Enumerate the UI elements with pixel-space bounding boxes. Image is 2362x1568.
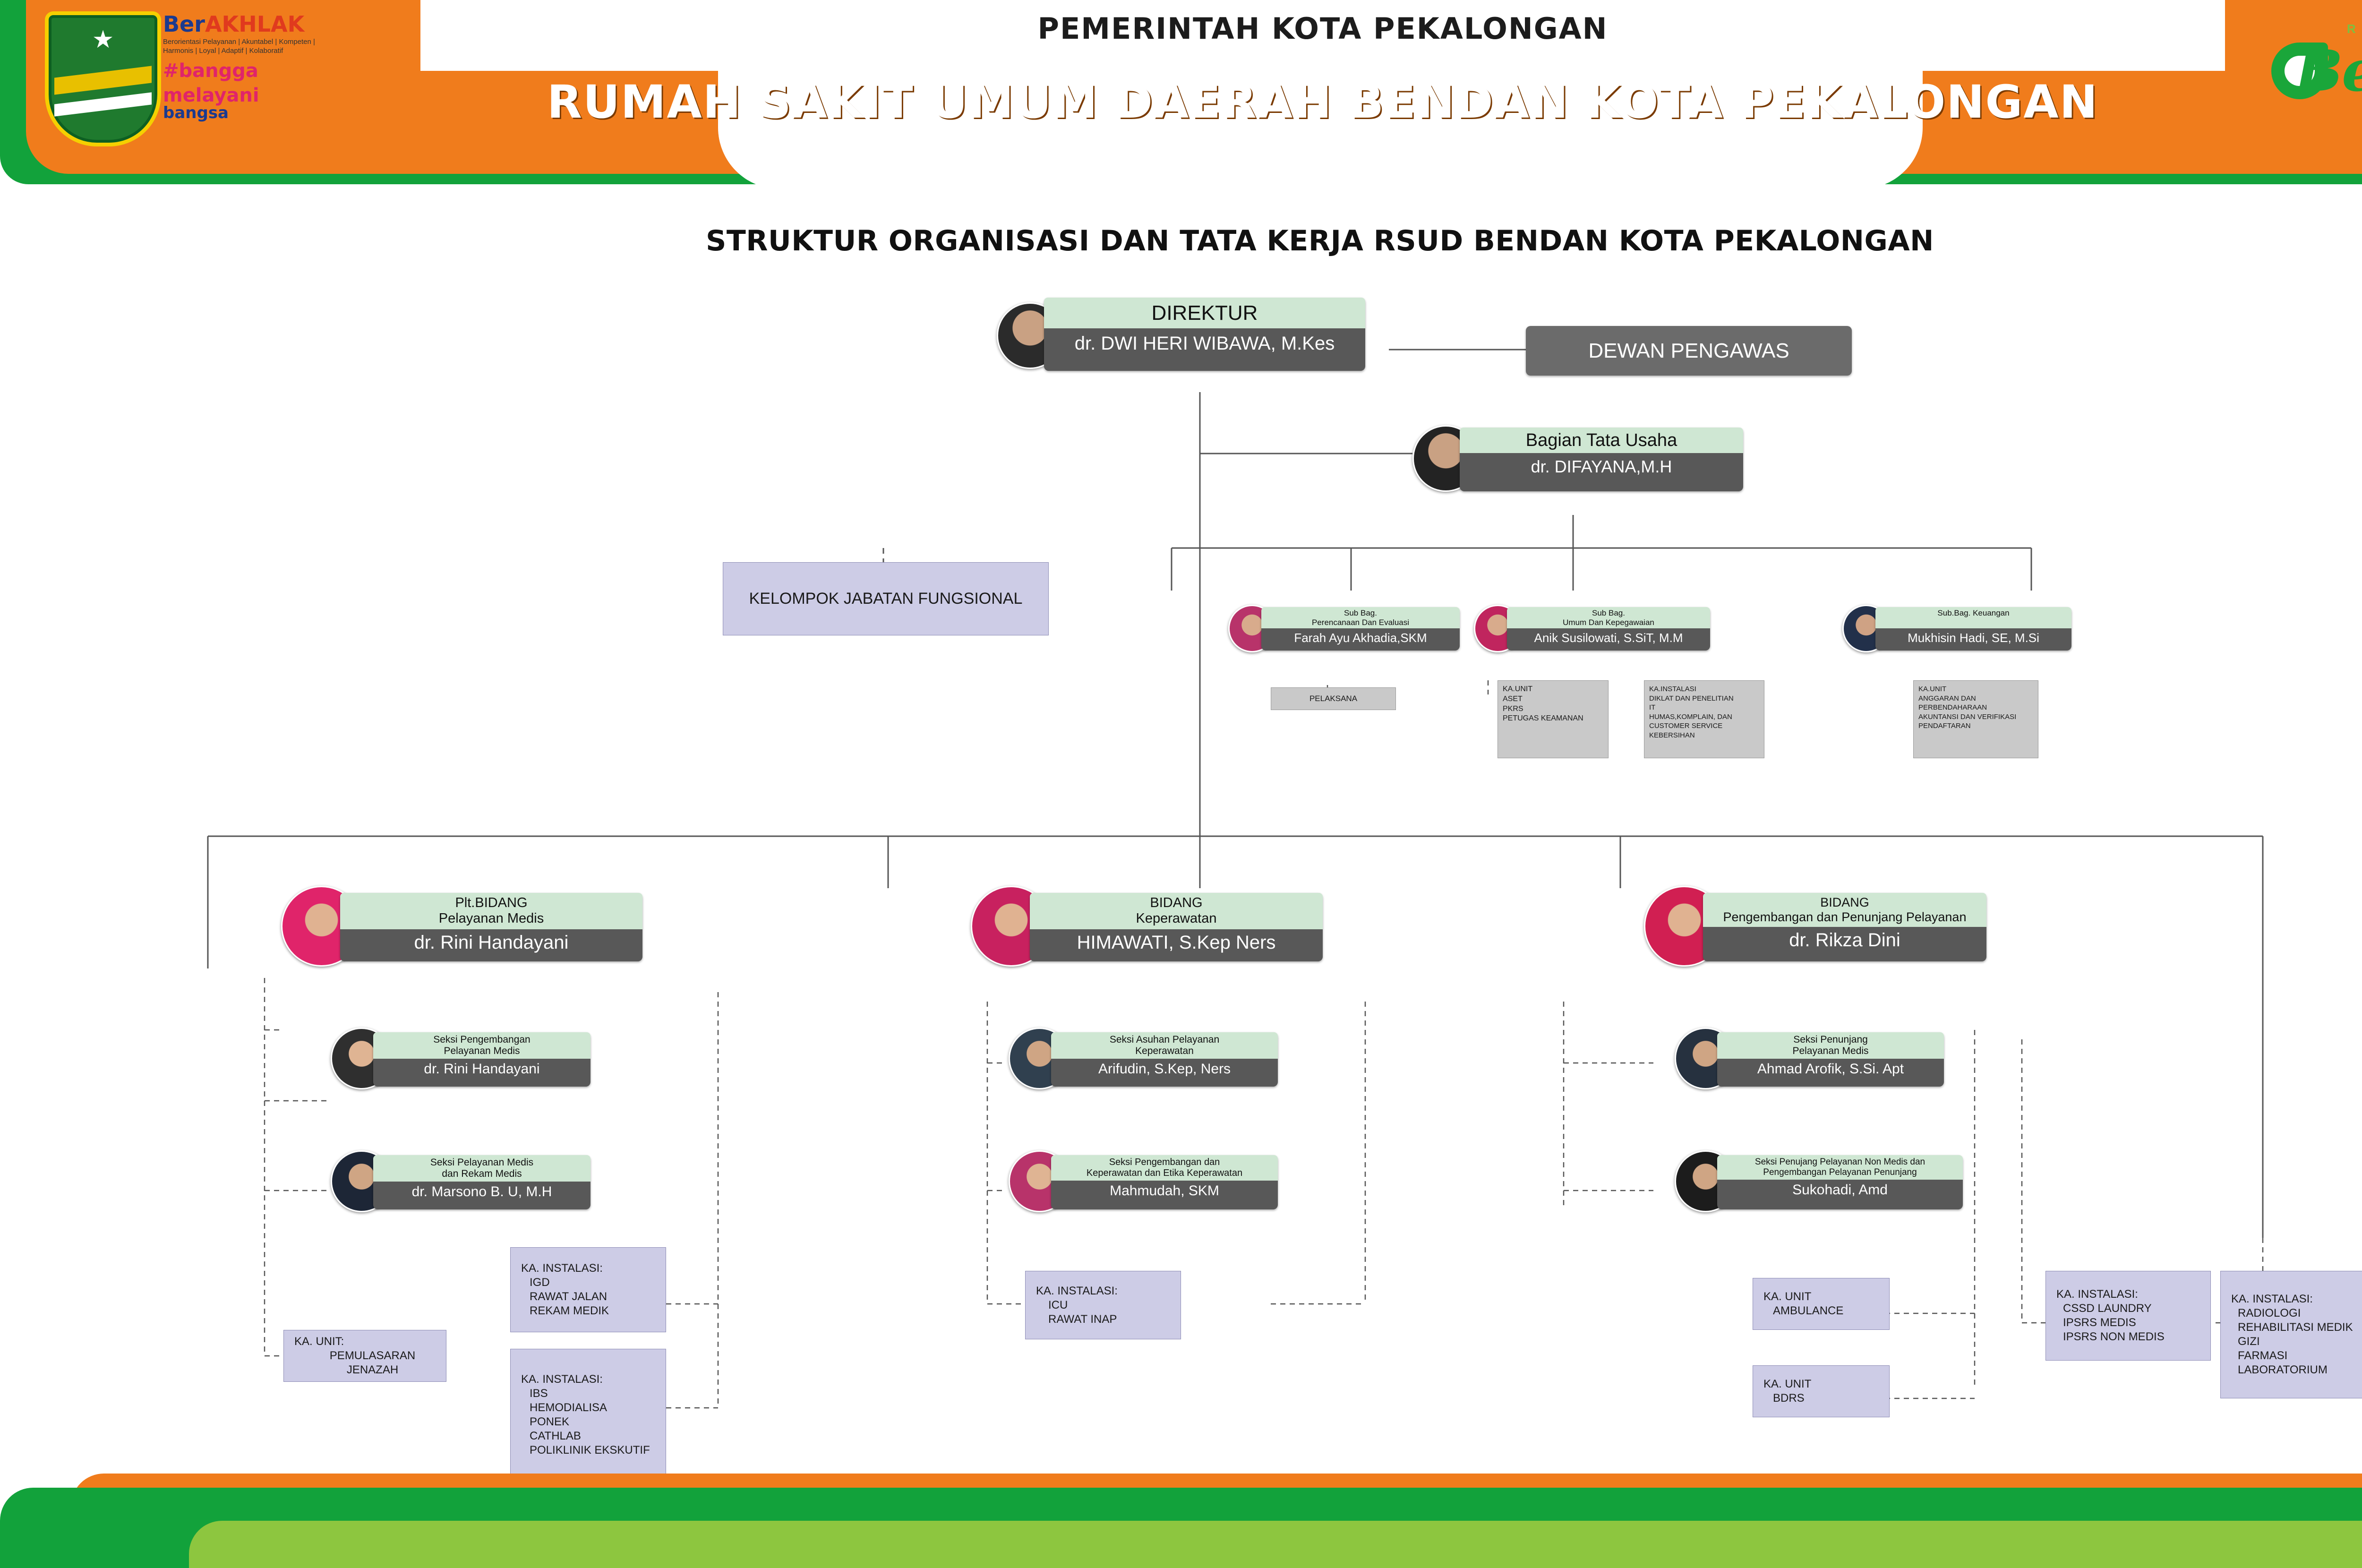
bidang-keperawatan-role-l1: BIDANG [1034, 895, 1319, 911]
node-subbag-umum[interactable]: Sub Bag. Umum Dan Kepegawaian Anik Susil… [1507, 607, 1710, 651]
seksi-etika-role-l2: Keperawatan dan Etika Keperawatan [1054, 1168, 1275, 1179]
ka-unit-anggaran-l5: PENDAFTARAN [1918, 721, 2033, 731]
seksi-yanmed-rm-role-l2: dan Rekam Medis [376, 1168, 588, 1180]
ka-unit-ambulance-l2: AMBULANCE [1763, 1304, 1843, 1318]
ka-instalasi-igd-l1: KA. INSTALASI: [521, 1261, 603, 1276]
seksi-yanmed-rm-role: Seksi Pelayanan Medis dan Rekam Medis [373, 1155, 590, 1182]
seksi-penunjang-medis-name: Ahmad Arofik, S.Si. Apt [1717, 1059, 1944, 1077]
seksi-penunjang-medis-role-l2: Pelayanan Medis [1720, 1045, 1941, 1057]
node-pelaksana[interactable]: PELAKSANA [1271, 687, 1396, 710]
rsud-letters: R S U D [2347, 22, 2362, 36]
node-ka-instalasi-igd[interactable]: KA. INSTALASI: IGD RAWAT JALAN REKAM MED… [510, 1247, 666, 1332]
bidang-penunjang-name: dr. Rikza Dini [1703, 927, 1986, 951]
ka-instalasi-icu-l3: RAWAT INAP [1036, 1312, 1117, 1327]
seksi-pengembangan-yanmed-role-l1: Seksi Pengembangan [376, 1034, 588, 1045]
ka-instalasi-radiologi-l5: FARMASI [2231, 1349, 2287, 1363]
hash-icon: # [163, 60, 179, 82]
subbag-umum-role-l1: Sub Bag. [1510, 608, 1707, 618]
ka-instalasi-radiologi-l6: LABORATORIUM [2231, 1363, 2328, 1377]
bangga-melayani-line1: #bangga [163, 61, 319, 80]
ka-instalasi-radiologi-l2: RADIOLOGI [2231, 1306, 2301, 1320]
bidang-penunjang-role: BIDANG Pengembangan dan Penunjang Pelaya… [1703, 893, 1986, 927]
seksi-pengembangan-yanmed-name: dr. Rini Handayani [373, 1059, 590, 1077]
ka-instalasi-ibs-l3: HEMODIALISA [521, 1401, 607, 1415]
government-line: PEMERINTAH KOTA PEKALONGAN [420, 11, 2225, 46]
node-ka-instalasi-cssd[interactable]: KA. INSTALASI: CSSD LAUNDRY IPSRS MEDIS … [2045, 1271, 2211, 1361]
seksi-yanmed-rm-role-l1: Seksi Pelayanan Medis [376, 1157, 588, 1168]
page-header: PEMERINTAH KOTA PEKALONGAN RUMAH SAKIT U… [0, 0, 2362, 184]
seksi-penunjang-medis-role-l1: Seksi Penunjang [1720, 1034, 1941, 1045]
node-ka-unit-ambulance[interactable]: KA. UNIT AMBULANCE [1753, 1278, 1890, 1330]
seksi-penunjang-nonmedis-role: Seksi Penujang Pelayanan Non Medis dan P… [1717, 1155, 1963, 1180]
direktur-name: dr. DWI HERI WIBAWA, M.Kes [1044, 328, 1365, 354]
node-subbag-perencanaan[interactable]: Sub Bag. Perencanaan Dan Evaluasi Farah … [1261, 607, 1460, 651]
ka-unit-aset-l1: KA.UNIT [1503, 685, 1603, 694]
ka-instalasi-ibs-l2: IBS [521, 1387, 548, 1401]
seksi-penunjang-nonmedis-role-l2: Pengembangan Pelayanan Penunjang [1720, 1167, 1960, 1178]
bidang-keperawatan-name: HIMAWATI, S.Kep Ners [1030, 929, 1323, 953]
bangga-melayani-line2: melayani [163, 86, 319, 105]
subbag-perencanaan-role-l1: Sub Bag. [1264, 608, 1457, 618]
node-bidang-penunjang[interactable]: BIDANG Pengembangan dan Penunjang Pelaya… [1703, 893, 1986, 961]
node-jabatan-fungsional[interactable]: KELOMPOK JABATAN FUNGSIONAL [723, 562, 1049, 635]
pemkot-logo: ★ BerAKHLAK Berorientasi Pelayanan | Aku… [45, 7, 201, 163]
ka-instalasi-icu-l1: KA. INSTALASI: [1036, 1284, 1118, 1298]
berakhlak-logo: BerAKHLAK Berorientasi Pelayanan | Akunt… [163, 11, 319, 121]
seksi-penunjang-nonmedis-name: Sukohadi, Amd [1717, 1180, 1963, 1198]
ka-unit-pemulasaran-l2: PEMULASARAN JENAZAH [294, 1349, 442, 1377]
ka-instalasi-cssd-l4: IPSRS NON MEDIS [2056, 1330, 2165, 1344]
seksi-asuhan-role-l1: Seksi Asuhan Pelayanan [1054, 1034, 1275, 1045]
node-seksi-penunjang-nonmedis[interactable]: Seksi Penujang Pelayanan Non Medis dan P… [1717, 1155, 1963, 1209]
seksi-asuhan-name: Arifudin, S.Kep, Ners [1051, 1059, 1278, 1077]
bidang-pelayanan-medis-role-l2: Pelayanan Medis [344, 911, 639, 926]
node-ka-instalasi-radiologi[interactable]: KA. INSTALASI: RADIOLOGI REHABILITASI ME… [2220, 1271, 2362, 1398]
ka-instalasi-cssd-l3: IPSRS MEDIS [2056, 1316, 2136, 1330]
ka-unit-aset-l4: PETUGAS KEAMANAN [1503, 714, 1603, 724]
bendan-wordmark: Bendan [2295, 38, 2362, 104]
node-seksi-asuhan[interactable]: Seksi Asuhan Pelayanan Keperawatan Arifu… [1051, 1032, 1278, 1087]
node-bidang-pelayanan-medis[interactable]: Plt.BIDANG Pelayanan Medis dr. Rini Hand… [340, 893, 642, 961]
ka-unit-anggaran-l3: PERBENDAHARAAN [1918, 703, 2033, 712]
ka-instalasi-igd-l3: RAWAT JALAN [521, 1290, 607, 1304]
bangga-text: bangga [179, 60, 258, 82]
node-seksi-pengembangan-yanmed[interactable]: Seksi Pengembangan Pelayanan Medis dr. R… [373, 1032, 590, 1087]
subbag-keuangan-role: Sub.Bag. Keuangan [1875, 607, 2071, 628]
node-ka-unit-anggaran[interactable]: KA.UNIT ANGGARAN DAN PERBENDAHARAAN AKUN… [1913, 680, 2038, 758]
star-icon: ★ [92, 27, 114, 52]
rsud-bendan-logo: R S U D Bendan Pekalongan [2238, 19, 2362, 146]
node-ka-instalasi-ibs[interactable]: KA. INSTALASI: IBS HEMODIALISA PONEK CAT… [510, 1349, 666, 1481]
ka-instalasi-diklat-l5: CUSTOMER SERVICE [1649, 721, 1759, 731]
bidang-penunjang-role-l1: BIDANG [1707, 895, 1983, 910]
hospital-title: RUMAH SAKIT UMUM DAERAH BENDAN KOTA PEKA… [420, 76, 2225, 129]
ka-unit-bdrs-l1: KA. UNIT [1763, 1377, 1811, 1391]
node-ka-unit-pemulasaran[interactable]: KA. UNIT: PEMULASARAN JENAZAH [283, 1330, 446, 1382]
node-seksi-etika[interactable]: Seksi Pengembangan dan Keperawatan dan E… [1051, 1155, 1278, 1209]
node-ka-instalasi-icu[interactable]: KA. INSTALASI: ICU RAWAT INAP [1025, 1271, 1181, 1339]
subbag-keuangan-role-l2 [1878, 618, 2069, 627]
node-ka-unit-bdrs[interactable]: KA. UNIT BDRS [1753, 1365, 1890, 1417]
city-crest-icon: ★ [45, 11, 161, 146]
ka-unit-aset-l2: ASET [1503, 694, 1603, 704]
subbag-keuangan-name: Mukhisin Hadi, SE, M.Si [1875, 628, 2071, 645]
ka-instalasi-radiologi-l4: GIZI [2231, 1335, 2260, 1349]
ka-instalasi-diklat-l3: IT [1649, 703, 1759, 712]
jabatan-fungsional-label: KELOMPOK JABATAN FUNGSIONAL [749, 589, 1023, 609]
node-ka-unit-aset[interactable]: KA.UNIT ASET PKRS PETUGAS KEAMANAN [1498, 680, 1609, 758]
seksi-pengembangan-yanmed-role: Seksi Pengembangan Pelayanan Medis [373, 1032, 590, 1059]
footer-lime-band [189, 1521, 2362, 1568]
bidang-pelayanan-medis-role: Plt.BIDANG Pelayanan Medis [340, 893, 642, 929]
direktur-role: DIREKTUR [1044, 298, 1365, 328]
subbag-perencanaan-name: Farah Ayu Akhadia,SKM [1261, 628, 1460, 645]
seksi-etika-role-l1: Seksi Pengembangan dan [1054, 1157, 1275, 1168]
ka-unit-aset-l3: PKRS [1503, 704, 1603, 714]
ka-instalasi-cssd-l1: KA. INSTALASI: [2056, 1287, 2138, 1302]
ka-instalasi-diklat-l4: HUMAS,KOMPLAIN, DAN [1649, 712, 1759, 722]
ka-unit-anggaran-l2: ANGGARAN DAN [1918, 694, 2033, 703]
bangga-melayani-line3: bangsa [163, 105, 319, 122]
node-ka-instalasi-diklat[interactable]: KA.INSTALASI DIKLAT DAN PENELITIAN IT HU… [1644, 680, 1764, 758]
ka-unit-anggaran-l4: AKUNTANSI DAN VERIFIKASI [1918, 712, 2033, 722]
ka-instalasi-diklat-l1: KA.INSTALASI [1649, 685, 1759, 694]
ka-instalasi-ibs-l6: POLIKLINIK EKSKUTIF [521, 1443, 650, 1457]
ka-instalasi-ibs-l5: CATHLAB [521, 1429, 581, 1443]
berakhlak-tagline: Berorientasi Pelayanan | Akuntabel | Kom… [163, 38, 319, 56]
node-seksi-yanmed-rm[interactable]: Seksi Pelayanan Medis dan Rekam Medis dr… [373, 1155, 590, 1209]
seksi-asuhan-role: Seksi Asuhan Pelayanan Keperawatan [1051, 1032, 1278, 1059]
berakhlak-brand: BerAKHLAK [163, 11, 319, 37]
tata-usaha-name: dr. DIFAYANA,M.H [1460, 453, 1743, 477]
subbag-umum-name: Anik Susilowati, S.SiT, M.M [1507, 628, 1710, 645]
bidang-keperawatan-role-l2: Keperawatan [1034, 911, 1319, 926]
page-footer [0, 1469, 2362, 1568]
crest-band-1 [54, 66, 152, 94]
bidang-pelayanan-medis-role-l1: Plt.BIDANG [344, 895, 639, 911]
dewan-pengawas-label: DEWAN PENGAWAS [1588, 339, 1789, 363]
ka-instalasi-radiologi-l3: REHABILITASI MEDIK [2231, 1320, 2353, 1335]
ka-instalasi-cssd-l2: CSSD LAUNDRY [2056, 1302, 2152, 1316]
seksi-etika-name: Mahmudah, SKM [1051, 1181, 1278, 1199]
ka-instalasi-diklat-l6: KEBERSIHAN [1649, 731, 1759, 740]
ka-instalasi-radiologi-l1: KA. INSTALASI: [2231, 1292, 2313, 1306]
node-seksi-penunjang-medis[interactable]: Seksi Penunjang Pelayanan Medis Ahmad Ar… [1717, 1032, 1944, 1087]
ka-instalasi-ibs-l1: KA. INSTALASI: [521, 1372, 603, 1387]
subbag-keuangan-role-l1: Sub.Bag. Keuangan [1878, 608, 2069, 618]
bidang-keperawatan-role: BIDANG Keperawatan [1030, 893, 1323, 929]
node-direktur[interactable]: DIREKTUR dr. DWI HERI WIBAWA, M.Kes [1044, 298, 1365, 371]
seksi-penunjang-medis-role: Seksi Penunjang Pelayanan Medis [1717, 1032, 1944, 1059]
subbag-umum-role-l2: Umum Dan Kepegawaian [1510, 618, 1707, 627]
seksi-pengembangan-yanmed-role-l2: Pelayanan Medis [376, 1045, 588, 1057]
bidang-pelayanan-medis-name: dr. Rini Handayani [340, 929, 642, 953]
pelaksana-label: PELAKSANA [1309, 694, 1357, 704]
ka-unit-ambulance-l1: KA. UNIT [1763, 1290, 1811, 1304]
ka-unit-anggaran-l1: KA.UNIT [1918, 685, 2033, 694]
ka-instalasi-ibs-l4: PONEK [521, 1415, 569, 1429]
ka-instalasi-icu-l2: ICU [1036, 1298, 1068, 1312]
seksi-yanmed-rm-name: dr. Marsono B. U, M.H [373, 1182, 590, 1200]
subbag-umum-role: Sub Bag. Umum Dan Kepegawaian [1507, 607, 1710, 628]
ka-instalasi-diklat-l2: DIKLAT DAN PENELITIAN [1649, 694, 1759, 703]
ka-unit-bdrs-l2: BDRS [1763, 1391, 1805, 1405]
node-bidang-keperawatan[interactable]: BIDANG Keperawatan HIMAWATI, S.Kep Ners [1030, 893, 1323, 961]
bidang-penunjang-role-l2: Pengembangan dan Penunjang Pelayanan [1707, 910, 1983, 925]
node-subbag-keuangan[interactable]: Sub.Bag. Keuangan Mukhisin Hadi, SE, M.S… [1875, 607, 2071, 651]
ka-instalasi-igd-l2: IGD [521, 1276, 550, 1290]
chart-title: STRUKTUR ORGANISASI DAN TATA KERJA RSUD … [0, 224, 2362, 257]
subbag-perencanaan-role: Sub Bag. Perencanaan Dan Evaluasi [1261, 607, 1460, 628]
seksi-penunjang-nonmedis-role-l1: Seksi Penujang Pelayanan Non Medis dan [1720, 1157, 1960, 1167]
crest-band-2 [54, 92, 152, 116]
seksi-etika-role: Seksi Pengembangan dan Keperawatan dan E… [1051, 1155, 1278, 1181]
seksi-asuhan-role-l2: Keperawatan [1054, 1045, 1275, 1057]
ka-instalasi-igd-l4: REKAM MEDIK [521, 1304, 609, 1318]
tata-usaha-role: Bagian Tata Usaha [1460, 428, 1743, 453]
ka-unit-pemulasaran-l1: KA. UNIT: [294, 1335, 344, 1349]
node-dewan-pengawas[interactable]: DEWAN PENGAWAS [1526, 326, 1852, 376]
subbag-perencanaan-role-l2: Perencanaan Dan Evaluasi [1264, 618, 1457, 627]
node-tata-usaha[interactable]: Bagian Tata Usaha dr. DIFAYANA,M.H [1460, 428, 1743, 491]
